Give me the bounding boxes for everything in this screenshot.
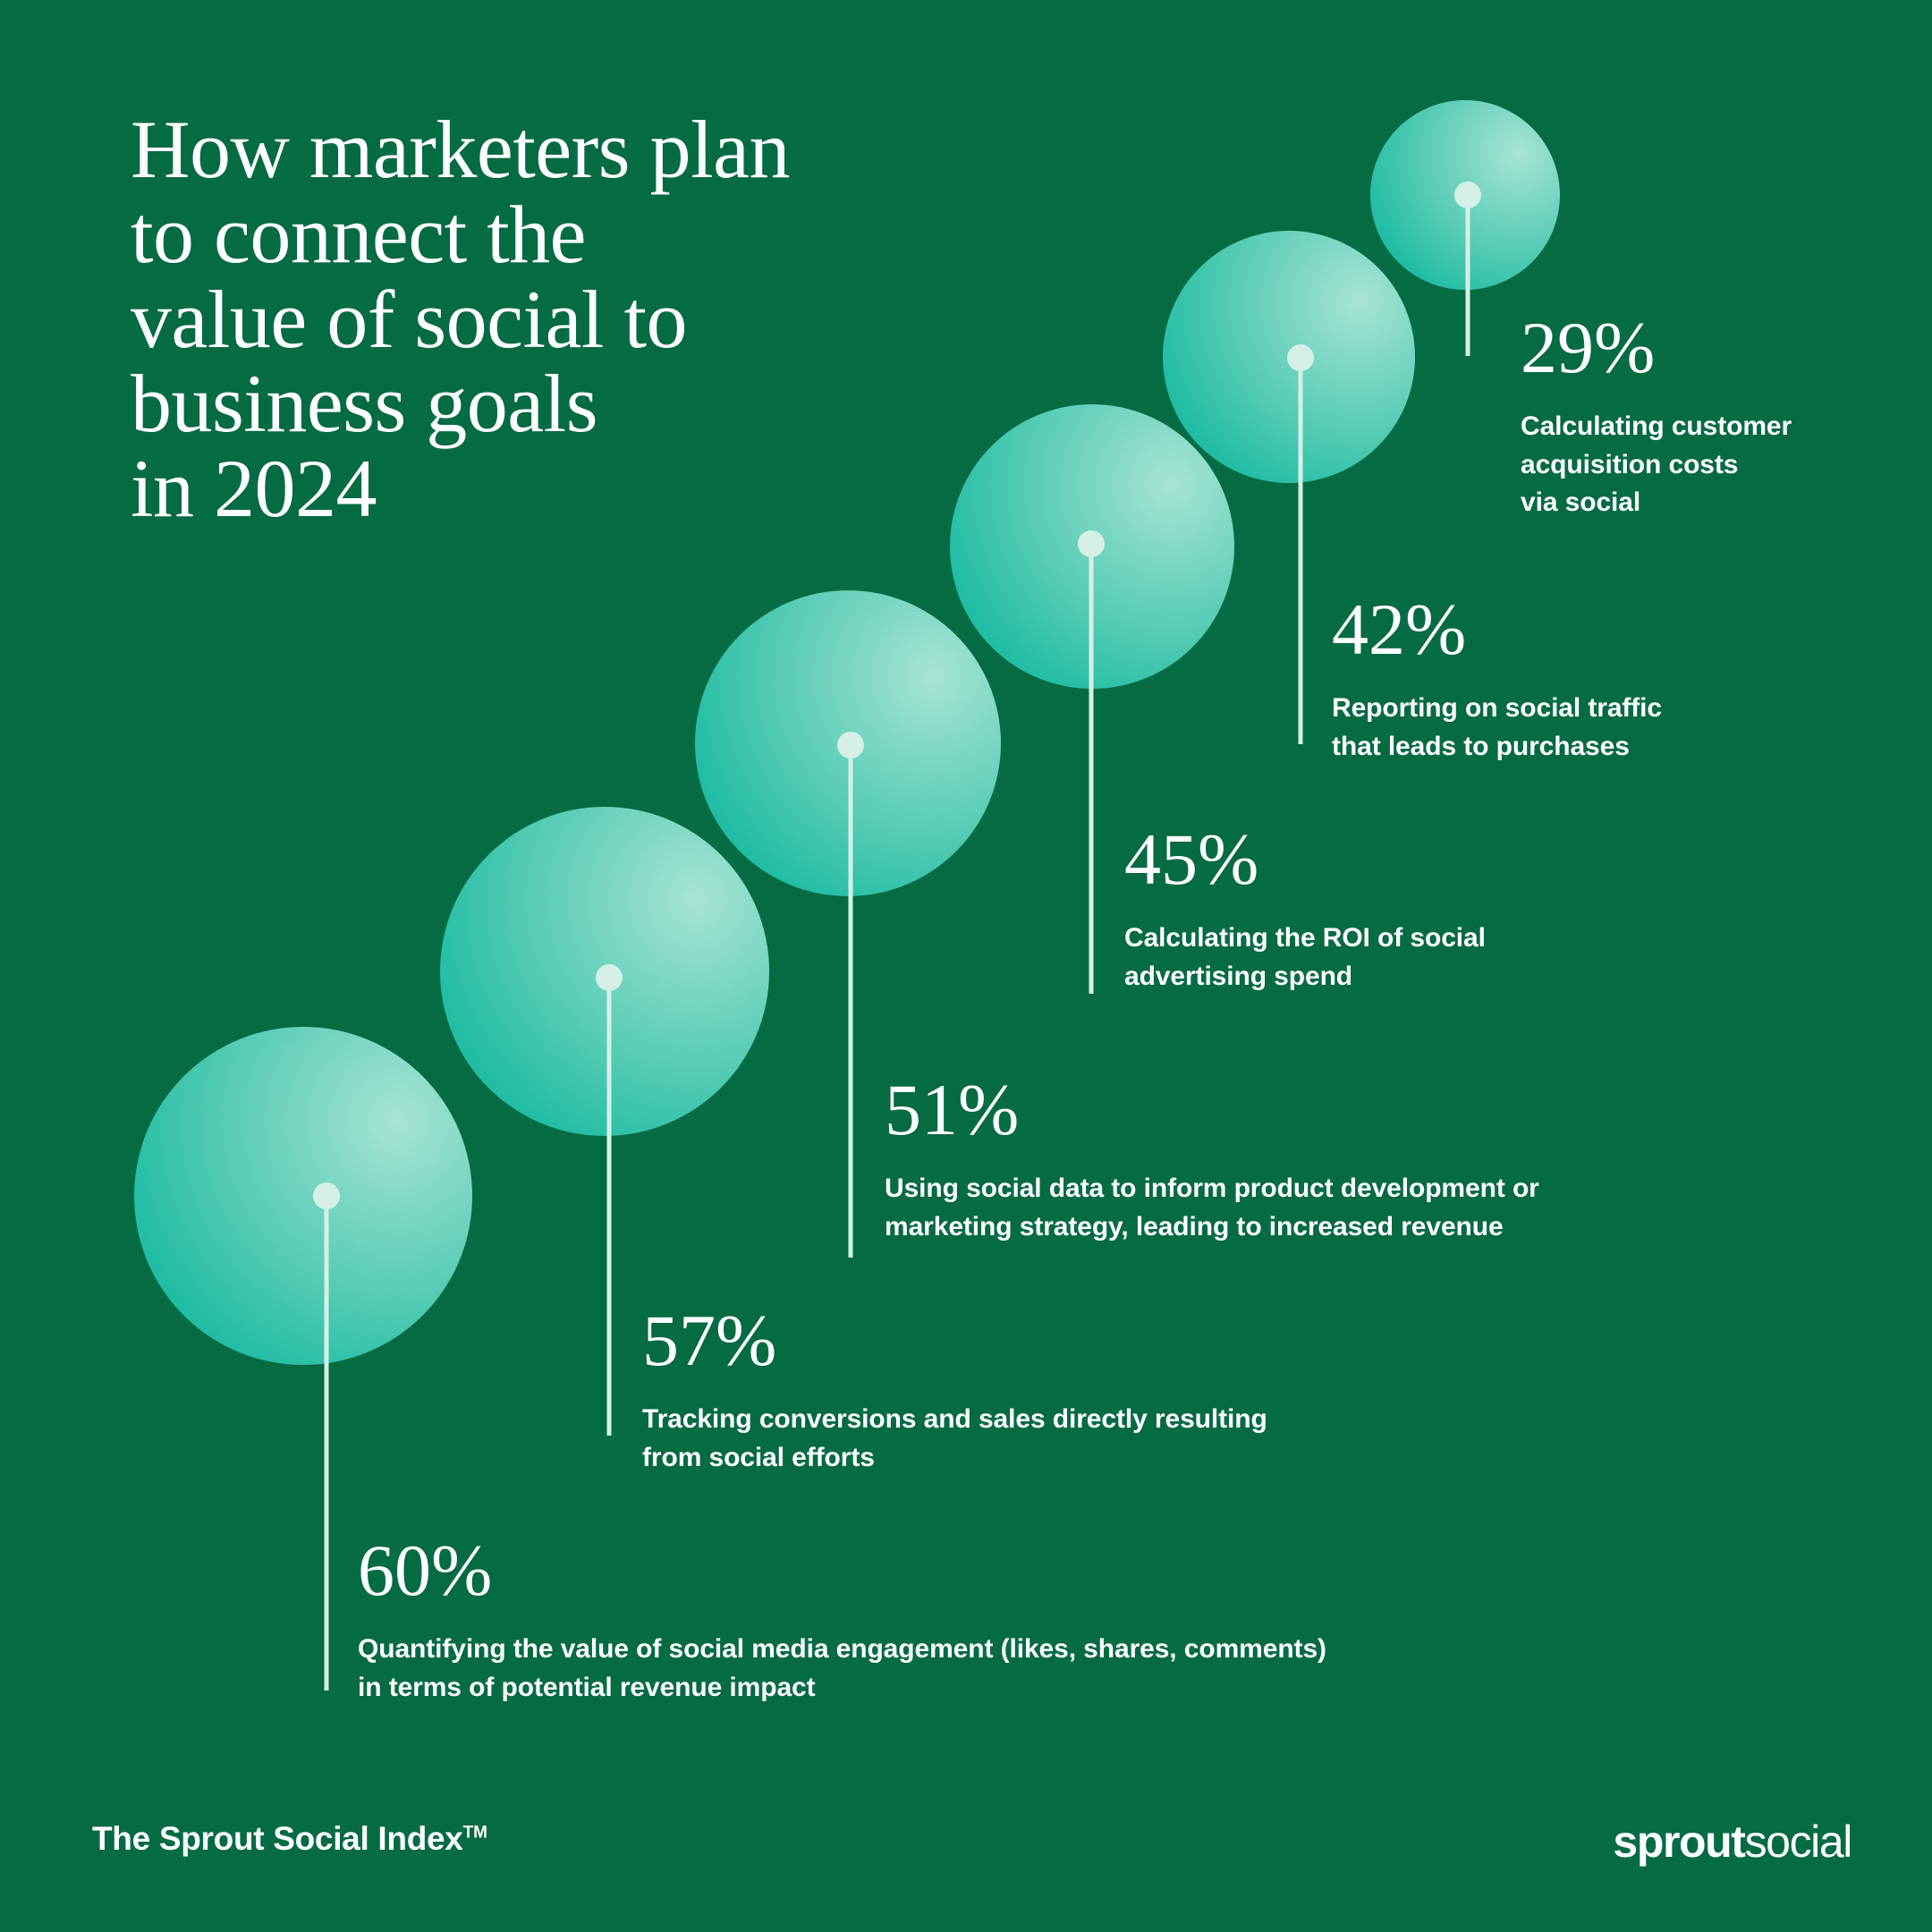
stat-block-42: 42% Reporting on social traffic that lea… [1332,593,1752,766]
stat-block-60: 60% Quantifying the value of social medi… [358,1534,1521,1707]
infographic-canvas: How marketers plan to connect the value … [0,0,1932,1932]
sprout-social-logo: sproutsocial [1613,1816,1851,1868]
connector-dot-29 [1454,182,1481,208]
connector-dot-45 [1078,530,1105,557]
stat-description-29: Calculating customer acquisition costs v… [1521,411,1792,517]
stat-description-51: Using social data to inform product deve… [885,1174,1539,1241]
connector-dot-60 [313,1182,340,1209]
stat-percent-45: 45% [1124,823,1589,896]
footer-index-label: The Sprout Social IndexTM [92,1820,487,1858]
connector-line-51 [849,745,853,1258]
stat-percent-60: 60% [358,1534,1521,1607]
logo-word-sprout: sprout [1613,1817,1744,1867]
stat-percent-29: 29% [1521,311,1896,385]
connector-line-29 [1466,195,1470,356]
stat-percent-57: 57% [642,1304,1411,1377]
footer-index-text: The Sprout Social Index [92,1820,463,1857]
logo-word-social: social [1745,1817,1851,1867]
connector-line-60 [325,1196,329,1690]
stat-percent-51: 51% [885,1073,1690,1147]
page-title: How marketers plan to connect the value … [131,107,1025,531]
connector-line-57 [607,978,612,1436]
stat-block-45: 45% Calculating the ROI of social advert… [1124,823,1589,996]
stat-description-60: Quantifying the value of social media en… [358,1634,1326,1702]
connector-line-45 [1089,544,1094,994]
stat-block-29: 29% Calculating customer acquisition cos… [1521,311,1896,522]
stat-description-42: Reporting on social traffic that leads t… [1332,693,1662,761]
connector-line-42 [1299,358,1303,744]
trademark-symbol: TM [463,1824,487,1843]
stat-description-45: Calculating the ROI of social advertisin… [1124,923,1486,991]
stat-percent-42: 42% [1332,593,1752,666]
stat-block-51: 51% Using social data to inform product … [885,1073,1690,1246]
connector-dot-51 [837,732,864,758]
connector-dot-57 [596,964,623,991]
stat-description-57: Tracking conversions and sales directly … [642,1404,1267,1472]
bubble-60 [134,1027,472,1365]
connector-dot-42 [1287,344,1314,371]
stat-block-57: 57% Tracking conversions and sales direc… [642,1304,1411,1477]
